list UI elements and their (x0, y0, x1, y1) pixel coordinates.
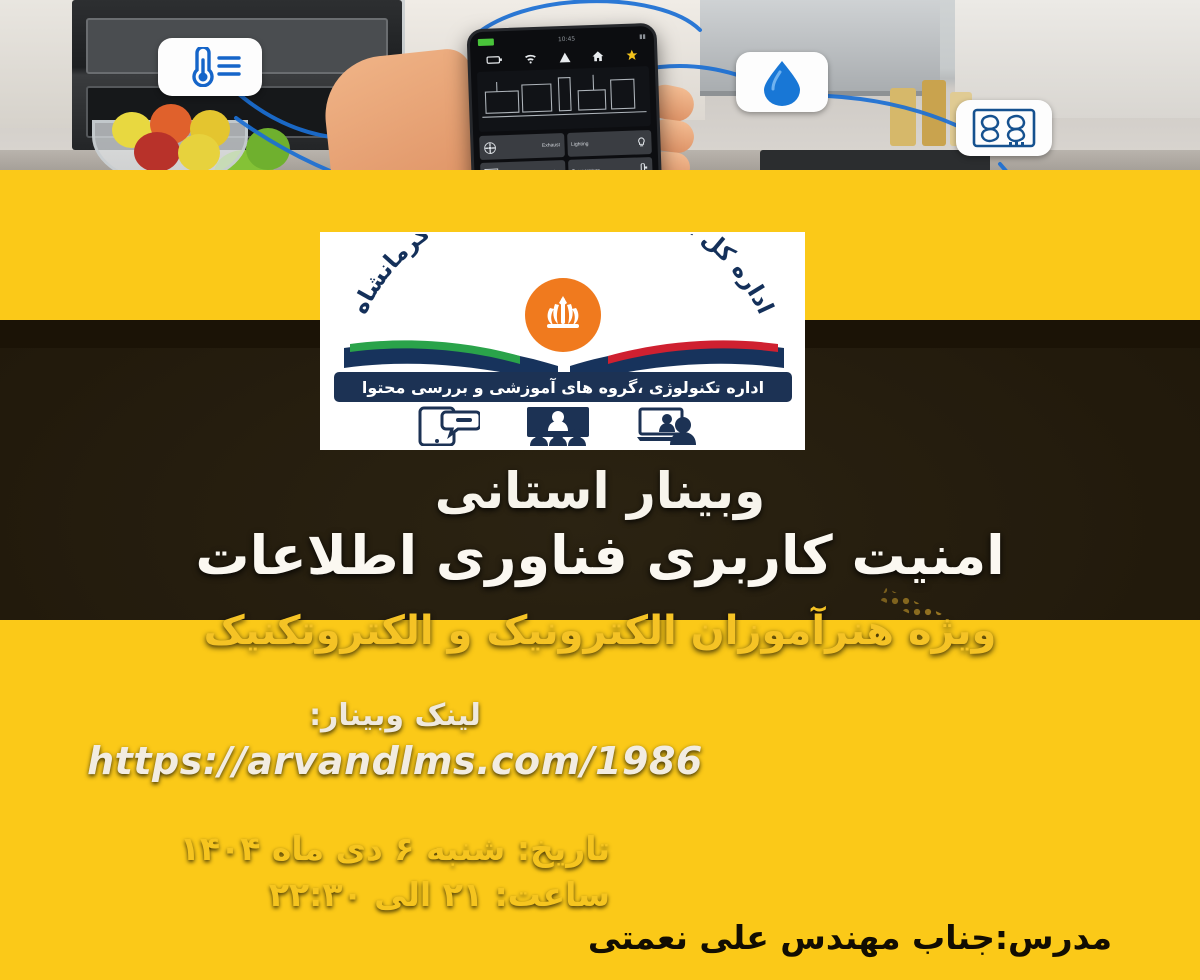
battery-icon (478, 38, 494, 46)
tile-exhaust[interactable]: Exhaust (479, 133, 564, 160)
gas-stove-icon (971, 107, 1037, 149)
tile-label: Lighting (571, 141, 589, 148)
tablet-chat-icon (418, 406, 480, 446)
room-outline-icon (477, 66, 651, 132)
page-subtitle: ویژه هنرآموزان الکترونیک و الکتروتکنیک (0, 608, 1200, 654)
status-time: 10:45 (558, 35, 576, 43)
webinar-link-url[interactable]: https://arvandlms.com/1986 (0, 739, 790, 783)
fan-icon (483, 141, 496, 154)
instructor-name: مدرس:جناب مهندس علی نعمتی (500, 918, 1200, 957)
alert-icon[interactable] (558, 50, 571, 63)
water-drop-badge (736, 52, 828, 112)
elearning-icon-row (320, 404, 805, 448)
event-date: تاریخ: شنبه ۶ دی ماه ۱۴۰۴ (0, 826, 610, 872)
signal-icon: ▮▮ (639, 33, 646, 40)
home-icon[interactable] (591, 49, 604, 62)
page-title-line1: وبینار استانی (0, 462, 1200, 520)
webinar-link-block: لینک وبینار: https://arvandlms.com/1986 (0, 698, 790, 783)
thermometer-icon (173, 47, 247, 87)
thermometer-badge (158, 38, 262, 96)
battery-status-icon[interactable] (487, 54, 503, 66)
page-title-line2: امنیت کاربری فناوری اطلاعات (0, 524, 1200, 587)
logo-arc-inner: معاونت آموزش متوسطه (433, 234, 692, 237)
svg-text:معاونت آموزش متوسطه: معاونت آموزش متوسطه (433, 234, 692, 237)
laptop-presenter-icon (636, 406, 708, 446)
logo-banner: اداره تکنولوژی ،گروه های آموزشی و بررسی … (334, 372, 792, 402)
webinar-poster: ▮▮ 10:45 (0, 0, 1200, 980)
star-icon[interactable] (625, 48, 638, 61)
phone-room-schematic (477, 66, 651, 132)
organization-logo-card: اداره کل آموزش و پرورش استان کرمانشاه مع… (320, 232, 805, 450)
gas-stove-badge (956, 100, 1052, 156)
tile-lighting[interactable]: Lighting (567, 130, 652, 157)
logo-banner-text: اداره تکنولوژی ،گروه های آموزشی و بررسی … (362, 378, 764, 397)
event-time: ساعت: ۲۱ الی ۲۲:۳۰ (0, 872, 610, 918)
water-drop-icon (760, 58, 804, 106)
online-class-icon (526, 406, 590, 446)
emblem-glyph-icon (541, 294, 585, 336)
tile-label: Exhaust (542, 142, 560, 149)
webinar-link-label: لینک وبینار: (0, 698, 790, 733)
wifi-icon[interactable] (523, 51, 537, 64)
schedule-block: تاریخ: شنبه ۶ دی ماه ۱۴۰۴ ساعت: ۲۱ الی ۲… (0, 826, 620, 917)
bulb-icon (635, 136, 647, 148)
